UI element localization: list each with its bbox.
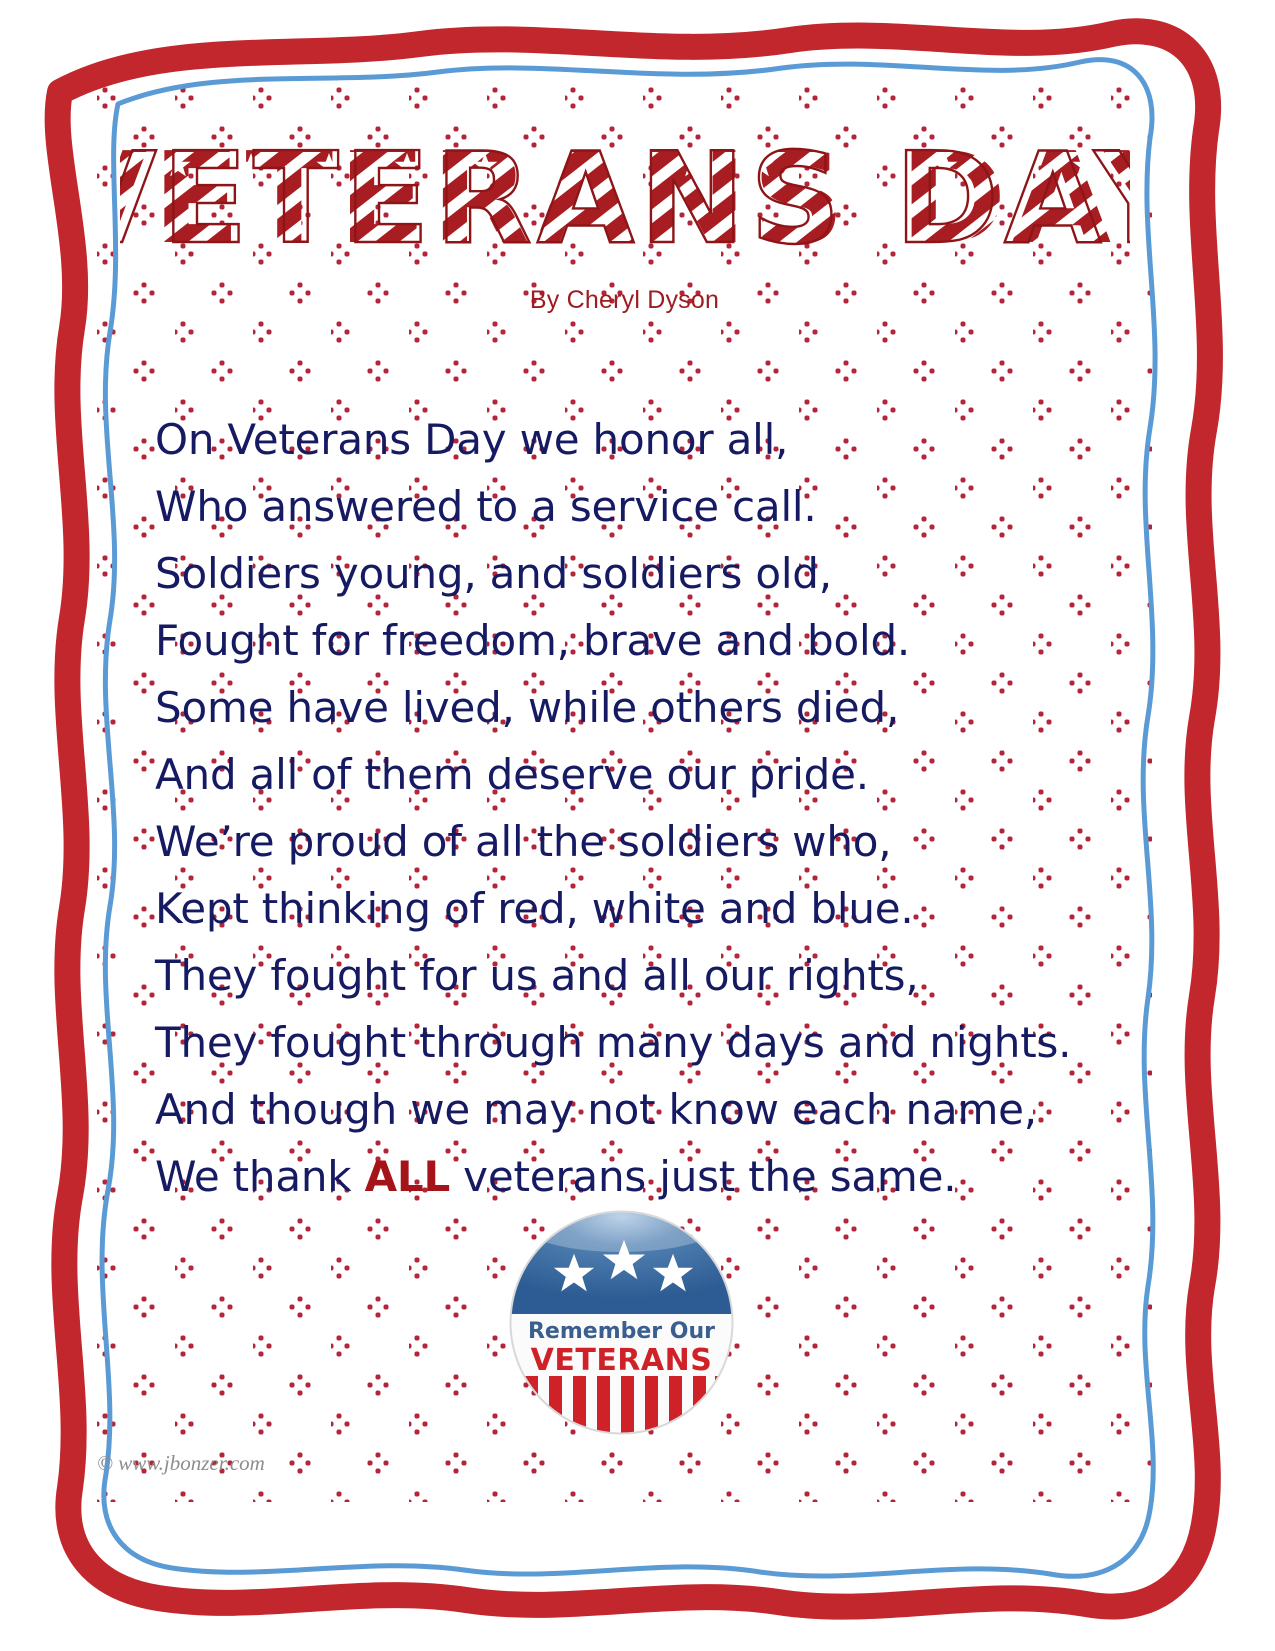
poem-final-post: veterans just the same. (450, 1152, 956, 1201)
badge-line1: Remember Our (528, 1319, 715, 1344)
copyright-credit: © www.jbonzer.com (97, 1451, 265, 1476)
poem-line: On Veterans Day we honor all, (155, 406, 1150, 473)
title-outline: VETERANS DAY (120, 130, 1130, 270)
poem-line: They fought for us and all our rights, (155, 942, 1150, 1009)
poem-line: And all of them deserve our pride. (155, 741, 1150, 808)
badge-line2: VETERANS (531, 1343, 713, 1378)
poem-line: Kept thinking of red, white and blue. (155, 875, 1150, 942)
poem-highlight-all: ALL (365, 1152, 450, 1201)
title-veterans-day: VETERANS DAY (120, 130, 1130, 270)
poem-line: And though we may not know each name, (155, 1076, 1150, 1143)
badge-stripes (525, 1376, 728, 1435)
poem-line: Who answered to a service call. (155, 473, 1150, 540)
remember-our-veterans-badge: Remember Our VETERANS (509, 1210, 734, 1435)
poem-line: Some have lived, while others died, (155, 674, 1150, 741)
poem-line: Fought for freedom, brave and bold. (155, 607, 1150, 674)
veterans-day-poster: VETERANS DAY (0, 0, 1275, 1651)
byline-author: By Cheryl Dyson (97, 286, 1152, 315)
page-title: VETERANS DAY (97, 130, 1152, 270)
poem-body: On Veterans Day we honor all, Who answer… (155, 406, 1150, 1210)
poem-line-final: We thank ALL veterans just the same. (155, 1143, 1150, 1210)
poem-line: Soldiers young, and soldiers old, (155, 540, 1150, 607)
poem-final-pre: We thank (155, 1152, 365, 1201)
poster-content: VETERANS DAY (97, 82, 1152, 1502)
poem-line: They fought through many days and nights… (155, 1009, 1150, 1076)
poem-line: We’re proud of all the soldiers who, (155, 808, 1150, 875)
